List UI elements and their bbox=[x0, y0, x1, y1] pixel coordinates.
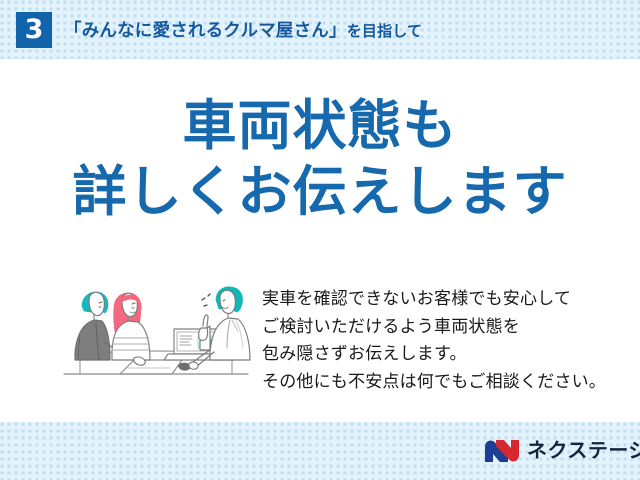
headline-line-2: 詳しくお伝えします bbox=[0, 162, 640, 222]
header: 3 「みんなに愛されるクルマ屋さん」を目指して bbox=[0, 0, 640, 59]
body-copy: 実車を確認できないお客様でも安心して ご検討いただけるよう車両状態を 包み隠さず… bbox=[262, 285, 618, 396]
header-title-main: 「みんなに愛されるクルマ屋さん」 bbox=[64, 20, 347, 40]
body-copy-line-2: ご検討いただけるよう車両状態を bbox=[262, 313, 618, 341]
header-title: 「みんなに愛されるクルマ屋さん」を目指して bbox=[64, 17, 422, 42]
header-title-suffix: を目指して bbox=[347, 23, 423, 40]
nextage-n-mark-icon bbox=[484, 438, 520, 464]
brand-logo: ネクステージ bbox=[484, 437, 640, 465]
customer-consultation-illustration bbox=[58, 278, 254, 383]
brand-name: ネクステージ bbox=[527, 438, 640, 464]
headline-line-1: 車両状態も bbox=[0, 96, 640, 156]
promo-banner: 3 「みんなに愛されるクルマ屋さん」を目指して 車両状態も 詳しくお伝えします bbox=[0, 0, 640, 480]
body-copy-line-1: 実車を確認できないお客様でも安心して bbox=[262, 285, 618, 313]
step-number-badge: 3 bbox=[16, 12, 52, 48]
body-copy-line-4: その他にも不安点は何でもご相談ください。 bbox=[262, 368, 618, 396]
body-copy-line-3: 包み隠さずお伝えします。 bbox=[262, 340, 618, 368]
headline: 車両状態も 詳しくお伝えします bbox=[0, 96, 640, 223]
